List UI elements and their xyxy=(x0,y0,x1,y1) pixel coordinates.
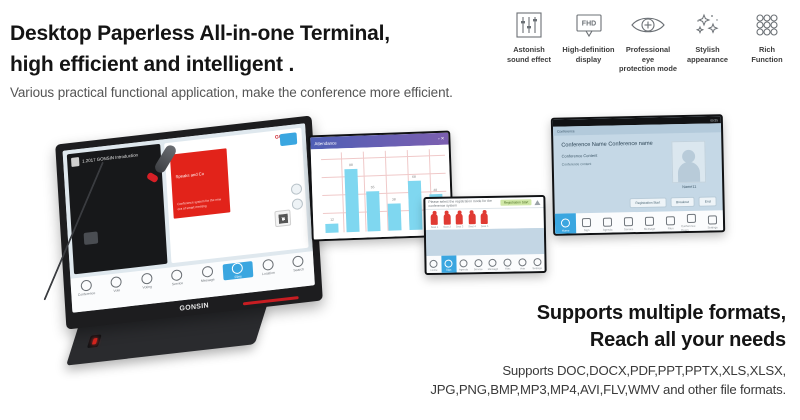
service-icon xyxy=(624,217,633,226)
conference-body: Conference Name Conference name Conferen… xyxy=(553,132,723,214)
chart-bar: 55 xyxy=(366,191,380,231)
conf-taskbar-item-query[interactable]: Conference Query xyxy=(681,214,702,232)
vote-icon xyxy=(111,276,123,288)
taskbar-label: Vote xyxy=(520,267,525,270)
bar-value-label: 12 xyxy=(330,218,334,222)
status-time: 09:35 xyxy=(710,118,718,122)
location-icon xyxy=(262,259,274,271)
seat-person-icon xyxy=(456,213,463,224)
vote-header-text: Please select the registration mode for … xyxy=(428,199,497,208)
query-icon xyxy=(687,214,696,223)
taskbar-label: Settings xyxy=(532,267,541,270)
red-cover-subtitle: Conference system for the new era of sma… xyxy=(177,197,225,212)
chart-bar: 38 xyxy=(388,203,402,231)
feature-label: Stylish appearance xyxy=(687,45,728,64)
vote-content-area xyxy=(426,228,544,256)
agenda-icon xyxy=(603,218,612,227)
seat-item[interactable]: Seat 4 xyxy=(468,213,476,229)
eye-care-icon xyxy=(629,8,667,42)
seat-person-icon xyxy=(443,214,450,225)
grid-dots-icon xyxy=(752,8,782,42)
vote-icon xyxy=(518,258,526,266)
service-icon xyxy=(171,269,183,281)
taskbar-item-search[interactable]: Search xyxy=(283,254,314,273)
taskbar-label: Home xyxy=(562,228,570,232)
taskbar-label: Settings xyxy=(708,225,718,229)
taskbar-label: Message xyxy=(644,227,655,231)
taskbar-label: Search xyxy=(293,267,304,272)
agenda-icon xyxy=(459,259,467,267)
chart-bar: 68 xyxy=(408,181,423,230)
settings-icon xyxy=(708,215,717,224)
conference-icon xyxy=(80,279,92,291)
taskbar-item-files[interactable]: Files xyxy=(222,261,253,280)
vote-taskbar-item-message[interactable]: Message xyxy=(485,258,500,270)
warning-icon xyxy=(534,200,540,205)
voting-icon xyxy=(141,273,153,285)
taskbar-item-voting[interactable]: Voting xyxy=(131,271,162,290)
headline-line-1: Desktop Paperless All-in-one Terminal, xyxy=(10,18,490,49)
avatar-head xyxy=(682,150,695,163)
feature-label: Astonish sound effect xyxy=(507,45,551,64)
feature-stylish-appearance: Stylish appearance xyxy=(679,8,737,64)
vote-taskbar-item-home[interactable]: Home xyxy=(426,259,441,271)
document-header: 1.2017 GONSIN Introduction xyxy=(71,148,157,167)
seat-item[interactable]: Seat 3 xyxy=(456,213,464,229)
device-brand-logo: GONSIN xyxy=(179,302,209,312)
feature-label-line2: Function xyxy=(751,55,782,64)
taskbar-label: Home xyxy=(430,268,437,271)
sign-icon xyxy=(582,218,591,227)
red-cover-title: Speaks and Co xyxy=(175,169,223,180)
seat-item[interactable]: Seat 1 xyxy=(431,214,439,230)
feature-eye-protection-mode: Professional eye protection mode xyxy=(619,8,677,74)
conference-taskbar: Home Sign Agenda Service Message Files C… xyxy=(555,210,723,236)
taskbar-label: Files xyxy=(234,274,241,279)
seat-list: Seat 1 Seat 2 Seat 3 Seat 4 Seat 5 xyxy=(426,208,544,230)
message-icon xyxy=(489,258,497,266)
registration-start-badge[interactable]: Registration Start xyxy=(501,199,532,206)
feature-astonish-sound-effect: Astonish sound effect xyxy=(500,8,558,64)
headline-block: Desktop Paperless All-in-one Terminal, h… xyxy=(10,18,490,80)
home-icon xyxy=(561,218,570,227)
conf-taskbar-item-sign[interactable]: Sign xyxy=(576,218,597,232)
feature-label-line2: sound effect xyxy=(507,55,551,64)
document-title: 1.2017 GONSIN Introduction xyxy=(82,152,138,163)
search-icon xyxy=(292,255,304,267)
chart-bar: 12 xyxy=(326,224,339,233)
taskbar-label: Service xyxy=(474,268,483,271)
taskbar-item-service[interactable]: Service xyxy=(161,268,192,287)
taskbar-label: Voting xyxy=(142,285,152,290)
formats-subtext: Supports DOC,DOCX,PDF,PPT,PPTX,XLS,XLSX,… xyxy=(306,361,786,399)
conference-tab-label: Conference xyxy=(557,129,575,133)
avatar xyxy=(671,141,706,184)
taskbar-label: Agenda xyxy=(603,228,613,232)
chart-title: Attendance xyxy=(314,140,336,146)
conference-action-buttons: Registration Start Breakout End xyxy=(629,196,716,208)
end-button[interactable]: End xyxy=(699,196,717,206)
bar-value-label: 55 xyxy=(371,186,375,190)
feature-label-line1: Astonish xyxy=(513,45,545,54)
device-screen: 1.2017 GONSIN Introduction GONSIN Speaks… xyxy=(63,123,315,313)
formats-line-1: Supports multiple formats, xyxy=(306,300,786,327)
taskbar-item-vote[interactable]: Vote xyxy=(101,275,132,294)
taskbar-label: Service xyxy=(172,281,183,286)
breakout-button[interactable]: Breakout xyxy=(670,197,695,208)
seat-label: Seat 3 xyxy=(456,225,464,228)
formats-line-2: Reach all your needs xyxy=(306,327,786,354)
seat-person-icon xyxy=(481,213,488,224)
taskbar-label: Message xyxy=(488,267,499,270)
home-icon xyxy=(430,259,438,267)
taskbar-label: Agenda xyxy=(459,268,468,271)
fhd-display-icon: FHD xyxy=(573,8,605,42)
feature-label-line1: Stylish xyxy=(695,45,719,54)
equalizer-icon xyxy=(514,8,544,42)
seat-label: Seat 5 xyxy=(481,225,489,228)
vote-taskbar-item-agenda[interactable]: Agenda xyxy=(456,259,471,271)
files-icon xyxy=(232,262,244,274)
feature-label: Professional eye protection mode xyxy=(619,45,677,74)
feature-strip: Astonish sound effect FHD High-definitio… xyxy=(500,8,796,74)
document-file-icon xyxy=(71,157,79,167)
slide-active-tab[interactable] xyxy=(280,132,298,146)
seat-item[interactable]: Seat 5 xyxy=(481,213,489,229)
taskbar-label: Location xyxy=(262,271,275,276)
taskbar-label: Sign xyxy=(446,268,451,271)
registration-start-button[interactable]: Registration Start xyxy=(629,197,666,208)
taskbar-label: Vote xyxy=(113,288,120,293)
message-icon xyxy=(201,266,213,278)
conf-taskbar-item-files[interactable]: Files xyxy=(660,216,681,230)
feature-label-line2: appearance xyxy=(687,55,728,64)
sparkle-icon xyxy=(692,8,724,42)
feature-label-line2: display xyxy=(576,55,601,64)
seat-item[interactable]: Seat 2 xyxy=(443,214,451,230)
conference-screenshot: 09:35 Conference Conference Name Confere… xyxy=(551,114,725,236)
bar-value-label: 38 xyxy=(392,197,396,201)
zoom-out-button[interactable] xyxy=(292,198,304,210)
slide-side-controls xyxy=(291,183,304,210)
taskbar-item-location[interactable]: Location xyxy=(252,258,283,277)
feature-label-line1: Professional eye xyxy=(626,45,670,64)
zoom-in-button[interactable] xyxy=(291,183,303,195)
voting-screenshot: Please select the registration mode for … xyxy=(423,195,546,275)
vote-taskbar-item-sign[interactable]: Sign xyxy=(441,256,456,275)
formats-block: Supports multiple formats, Reach all you… xyxy=(306,300,786,399)
slide-preview-panel[interactable]: GONSIN Speaks and Co Conference system f… xyxy=(165,128,309,264)
taskbar-label: Conference Query xyxy=(681,224,702,232)
sign-icon xyxy=(445,259,453,267)
taskbar-label: Files xyxy=(505,267,511,270)
feature-label: High-definition display xyxy=(562,45,614,64)
vote-taskbar-item-vote[interactable]: Vote xyxy=(515,258,530,270)
taskbar-item-message[interactable]: Message xyxy=(192,265,223,284)
taskbar-label: Service xyxy=(624,227,633,231)
taskbar-label: Conference xyxy=(78,291,96,297)
document-thumbnail[interactable] xyxy=(84,231,99,245)
feature-rich-function: Rich Function xyxy=(738,8,796,64)
message-icon xyxy=(645,217,654,226)
chart-bar: 88 xyxy=(345,168,360,232)
taskbar-item-conference[interactable]: Conference xyxy=(71,278,102,297)
feature-label-line2: protection mode xyxy=(619,64,677,73)
conf-taskbar-item-message[interactable]: Message xyxy=(639,217,660,231)
attendee-name: Name11 xyxy=(672,185,706,190)
power-led-indicator xyxy=(87,334,102,348)
seat-person-icon xyxy=(468,213,475,224)
chart-window-controls[interactable]: ▫ ✕ xyxy=(438,136,445,142)
taskbar-label: Message xyxy=(201,277,215,283)
headline-line-2: high efficient and intelligent . xyxy=(10,49,490,80)
red-cover-page: Speaks and Co Conference system for the … xyxy=(170,148,230,218)
conf-taskbar-item-service[interactable]: Service xyxy=(618,217,639,231)
bar-value-label: 48 xyxy=(433,188,437,192)
seat-label: Seat 4 xyxy=(468,225,476,228)
seat-label: Seat 1 xyxy=(431,226,439,229)
taskbar-label: Sign xyxy=(584,228,590,232)
feature-high-definition-display: FHD High-definition display xyxy=(560,8,618,64)
conf-taskbar-item-agenda[interactable]: Agenda xyxy=(597,217,618,231)
vote-taskbar-item-service[interactable]: Service xyxy=(471,258,486,270)
vote-taskbar: Home Sign Agenda Service Message Files V… xyxy=(426,254,544,275)
bar-value-label: 68 xyxy=(412,175,416,179)
settings-icon xyxy=(533,258,541,266)
formats-sub-line1: Supports DOC,DOCX,PDF,PPT,PPTX,XLS,XLSX, xyxy=(502,363,786,378)
bar-value-label: 88 xyxy=(349,163,353,167)
qr-code-icon xyxy=(274,209,291,227)
svg-text:FHD: FHD xyxy=(581,21,595,28)
vote-taskbar-item-files[interactable]: Files xyxy=(500,258,515,270)
service-icon xyxy=(474,259,482,267)
files-icon xyxy=(504,258,512,266)
seat-person-icon xyxy=(431,214,438,225)
headline-subtitle: Various practical functional application… xyxy=(10,85,453,100)
feature-label-line1: High-definition xyxy=(562,45,614,54)
vote-taskbar-item-settings[interactable]: Settings xyxy=(530,257,545,269)
seat-label: Seat 2 xyxy=(443,226,451,229)
taskbar-label: Files xyxy=(668,226,674,230)
device-body: 1.2017 GONSIN Introduction GONSIN Speaks… xyxy=(55,115,323,329)
feature-label-line1: Rich xyxy=(759,45,775,54)
feature-label: Rich Function xyxy=(751,45,782,64)
conf-taskbar-item-settings[interactable]: Settings xyxy=(702,215,723,229)
conf-taskbar-item-home[interactable]: Home xyxy=(555,213,576,235)
files-icon xyxy=(666,216,675,225)
formats-sub-line2: JPG,PNG,BMP,MP3,MP4,AVI,FLV,WMV and othe… xyxy=(430,382,786,397)
